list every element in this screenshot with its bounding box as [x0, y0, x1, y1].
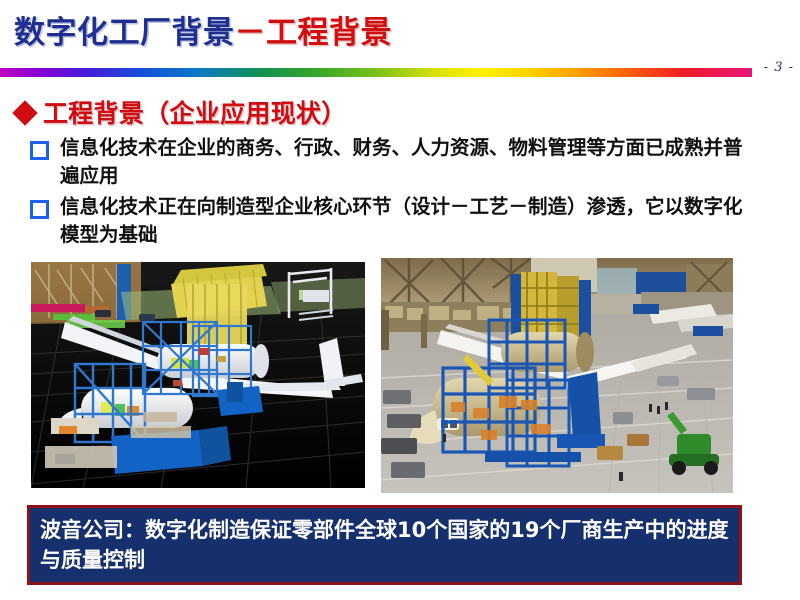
list-item-label: 信息化技术在企业的商务、行政、财务、人力资源、物料管理等方面已成熟并普遍应用: [60, 134, 760, 189]
digital-mockup-image: [31, 262, 365, 488]
digital-mockup-artwork: [31, 262, 365, 488]
square-bullet-icon: [30, 141, 49, 160]
caption-text: 波音公司：数字化制造保证零部件全球10个国家的19个厂商生产中的进度与质量控制: [40, 515, 729, 576]
diamond-bullet-icon: [12, 100, 37, 125]
factory-assembly-artwork: [381, 258, 733, 493]
rainbow-divider: [0, 68, 752, 77]
section-heading-label: 工程背景（企业应用现状）: [43, 94, 347, 130]
caption-box: 波音公司：数字化制造保证零部件全球10个国家的19个厂商生产中的进度与质量控制: [27, 505, 742, 585]
factory-assembly-photo: [381, 258, 733, 493]
page-title: 数字化工厂背景－工程背景: [14, 16, 392, 50]
slide-canvas: 数字化工厂背景－工程背景 - 3 - 工程背景（企业应用现状） 信息化技术在企业…: [0, 0, 800, 600]
bullet-list: 信息化技术在企业的商务、行政、财务、人力资源、物料管理等方面已成熟并普遍应用 信…: [30, 134, 775, 253]
page-title-secondary: －工程背景: [235, 15, 393, 51]
page-title-primary: 数字化工厂背景: [14, 15, 235, 51]
list-item-label: 信息化技术正在向制造型企业核心环节（设计－工艺－制造）渗透，它以数字化模型为基础: [60, 193, 760, 248]
square-bullet-icon: [30, 200, 49, 219]
page-number: - 3 -: [764, 60, 794, 75]
section-heading: 工程背景（企业应用现状）: [16, 94, 347, 130]
list-item: 信息化技术在企业的商务、行政、财务、人力资源、物料管理等方面已成熟并普遍应用: [30, 134, 775, 189]
list-item: 信息化技术正在向制造型企业核心环节（设计－工艺－制造）渗透，它以数字化模型为基础: [30, 193, 775, 248]
